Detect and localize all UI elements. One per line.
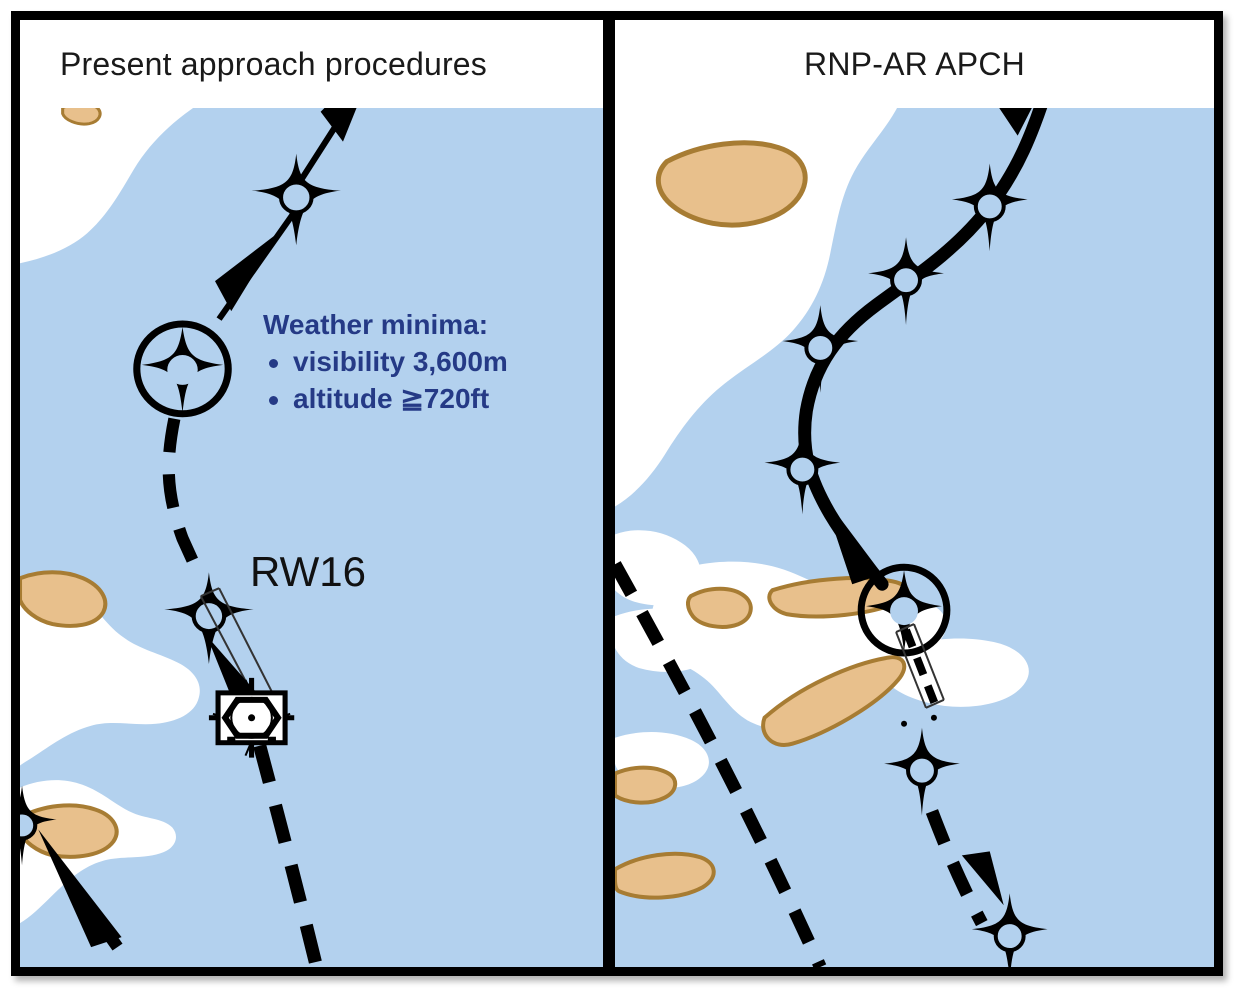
panel-title-bar-rnp-ar: RNP-AR APCH — [615, 20, 1214, 108]
map-rnp-ar-apch — [615, 20, 1214, 967]
figure-board: Present approach procedures Weather mini… — [11, 11, 1223, 976]
map-present-approach — [20, 20, 603, 967]
panel-rnp-ar-apch: RNP-AR APCH Weather minima: visibility 9… — [609, 20, 1214, 967]
panel-title-present: Present approach procedures — [60, 46, 487, 83]
panel-title-bar-present: Present approach procedures — [20, 20, 603, 108]
panel-present-approach: Present approach procedures Weather mini… — [20, 20, 609, 967]
runway-label-present: RW16 — [250, 548, 366, 596]
panel-title-rnp-ar: RNP-AR APCH — [804, 46, 1025, 83]
figure-root: Present approach procedures Weather mini… — [0, 0, 1236, 1007]
